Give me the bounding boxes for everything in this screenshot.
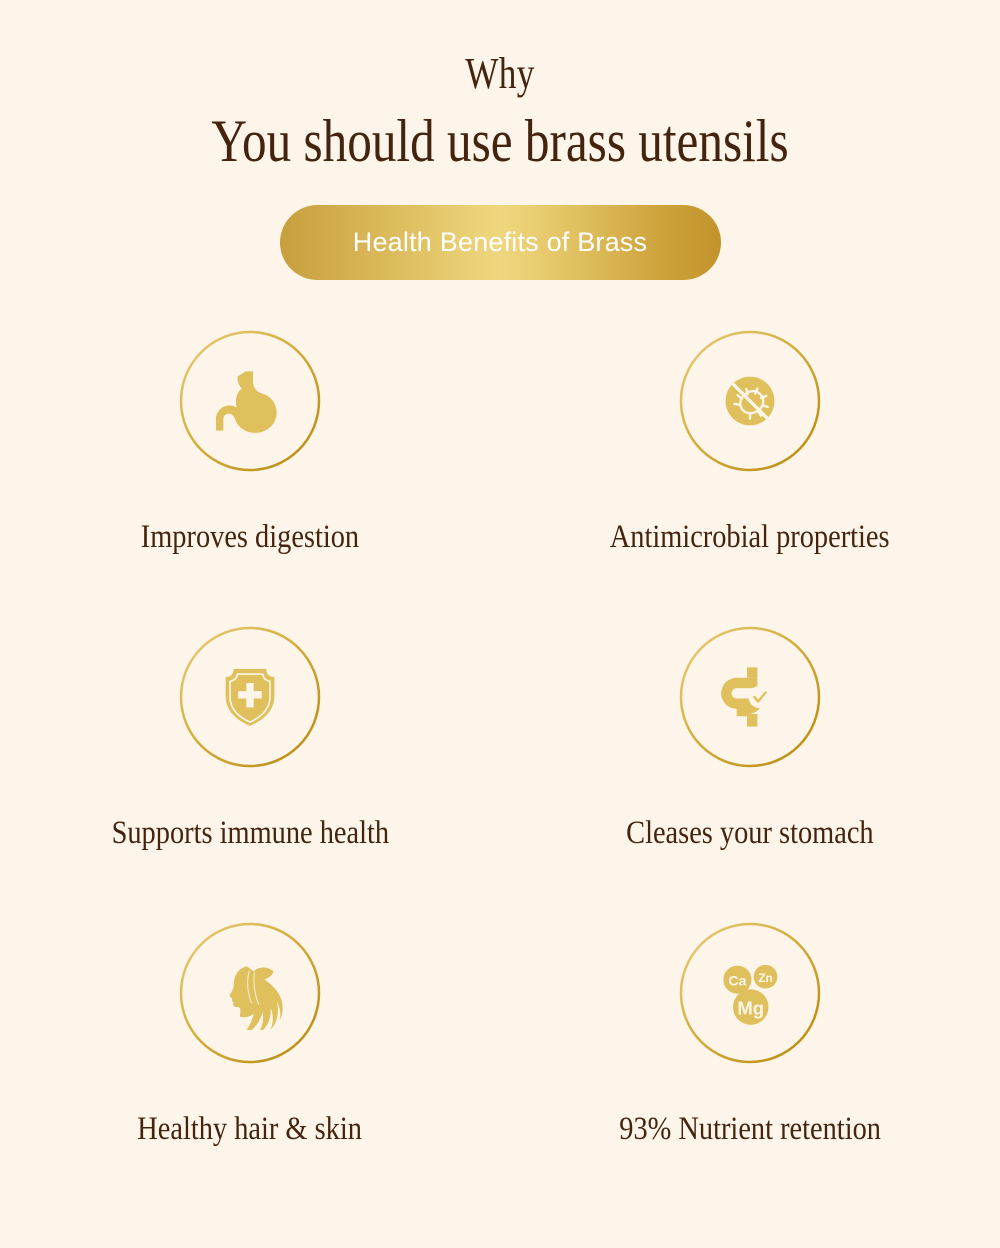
benefit-label: Antimicrobial properties xyxy=(610,518,890,556)
stomach-icon xyxy=(213,364,287,438)
benefit-item-cleanse[interactable]: Cleases your stomach xyxy=(500,626,1000,922)
icon-ring xyxy=(179,922,321,1064)
benefits-row: Supports immune health xyxy=(0,626,1000,922)
benefit-label: Cleases your stomach xyxy=(626,814,873,852)
badge-container: Health Benefits of Brass xyxy=(0,205,1000,280)
infographic-page: Why You should use brass utensils Health… xyxy=(0,0,1000,1248)
icon-ring: Ca Zn Mg xyxy=(679,922,821,1064)
icon-ring xyxy=(679,330,821,472)
hair-skin-icon xyxy=(213,956,287,1030)
benefit-item-nutrients[interactable]: Ca Zn Mg 93% Nutrient retention xyxy=(500,922,1000,1218)
minerals-icon: Ca Zn Mg xyxy=(713,956,787,1030)
no-bacteria-icon xyxy=(713,364,787,438)
header: Why You should use brass utensils xyxy=(0,0,1000,176)
shield-cross-icon xyxy=(213,660,287,734)
page-title: You should use brass utensils xyxy=(90,106,910,176)
calcium-label: Ca xyxy=(728,973,746,989)
benefit-label: 93% Nutrient retention xyxy=(619,1110,881,1148)
eyebrow-title: Why xyxy=(100,48,900,100)
benefit-label: Healthy hair & skin xyxy=(138,1110,363,1148)
benefit-item-digestion[interactable]: Improves digestion xyxy=(0,330,500,626)
icon-ring xyxy=(179,626,321,768)
zinc-label: Zn xyxy=(758,971,772,985)
badge-label: Health Benefits of Brass xyxy=(353,227,647,258)
icon-ring xyxy=(679,626,821,768)
benefit-item-hair-skin[interactable]: Healthy hair & skin xyxy=(0,922,500,1218)
intestine-check-icon xyxy=(713,660,787,734)
magnesium-label: Mg xyxy=(737,997,764,1018)
health-benefits-badge[interactable]: Health Benefits of Brass xyxy=(280,205,721,280)
benefits-row: Healthy hair & skin Ca Zn Mg xyxy=(0,922,1000,1218)
benefit-item-antimicrobial[interactable]: Antimicrobial properties xyxy=(500,330,1000,626)
benefit-label: Improves digestion xyxy=(141,518,359,556)
benefit-label: Supports immune health xyxy=(111,814,388,852)
benefit-item-immune[interactable]: Supports immune health xyxy=(0,626,500,922)
benefits-grid: Improves digestion xyxy=(0,330,1000,1218)
benefits-row: Improves digestion xyxy=(0,330,1000,626)
icon-ring xyxy=(179,330,321,472)
